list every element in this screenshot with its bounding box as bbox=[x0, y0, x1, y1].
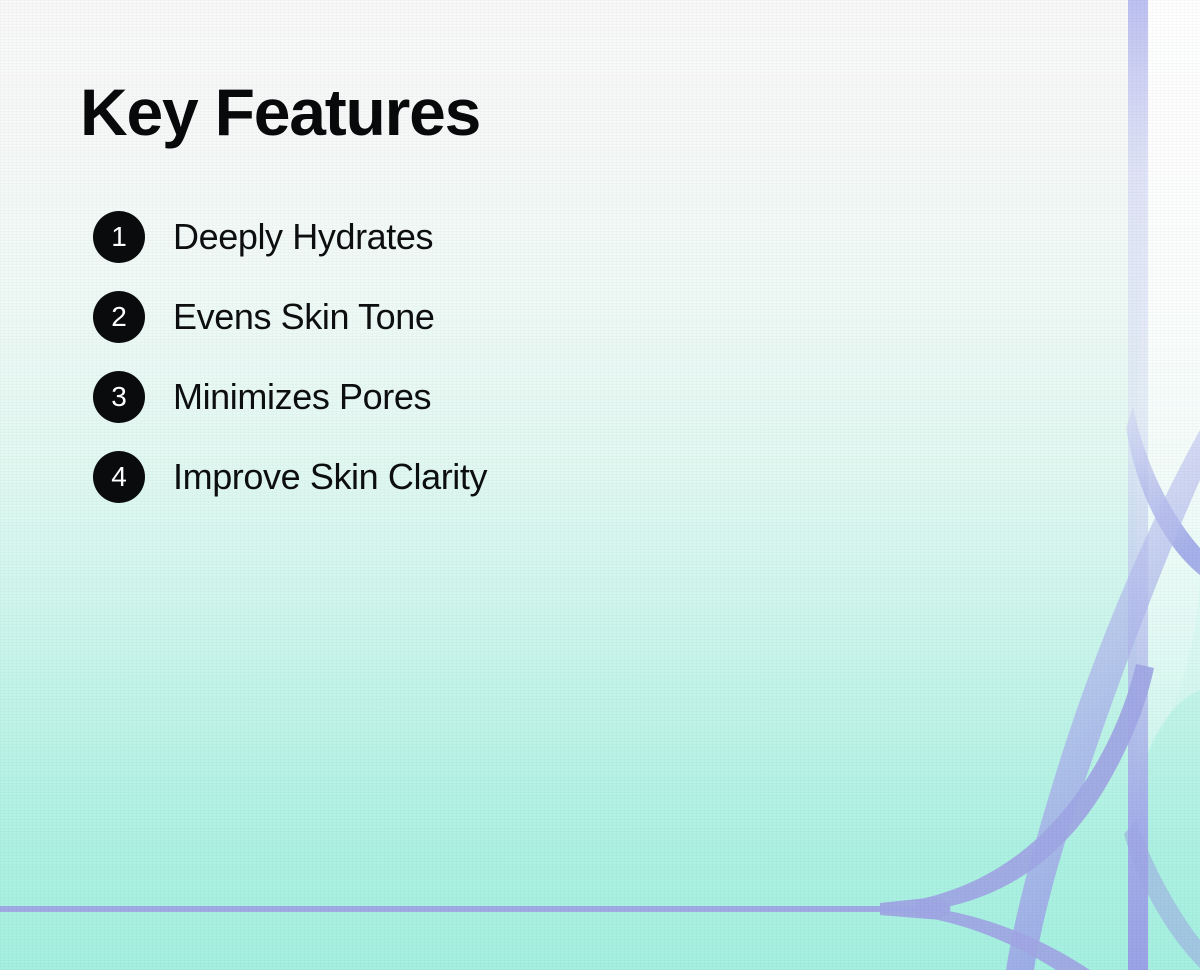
feature-label: Deeply Hydrates bbox=[173, 216, 433, 258]
fork-branch-down bbox=[916, 906, 1090, 970]
number-badge: 1 bbox=[93, 211, 145, 263]
vertical-accent-line bbox=[1128, 0, 1148, 970]
page-title: Key Features bbox=[80, 0, 840, 145]
feature-list: 1 Deeply Hydrates 2 Evens Skin Tone 3 Mi… bbox=[93, 211, 833, 531]
list-item: 1 Deeply Hydrates bbox=[93, 211, 833, 263]
slide-content: Key Features 1 Deeply Hydrates 2 Evens S… bbox=[80, 0, 840, 145]
feature-label: Evens Skin Tone bbox=[173, 296, 435, 338]
feature-label: Improve Skin Clarity bbox=[173, 456, 487, 498]
slide-canvas: Key Features 1 Deeply Hydrates 2 Evens S… bbox=[0, 0, 1200, 970]
fork-branch-up bbox=[916, 664, 1154, 912]
number-badge: 3 bbox=[93, 371, 145, 423]
list-item: 3 Minimizes Pores bbox=[93, 371, 833, 423]
right-panel-highlight-2 bbox=[1136, 0, 1200, 800]
swoosh-curve-main bbox=[1006, 430, 1200, 970]
swoosh-curve-upper bbox=[1126, 406, 1200, 575]
list-item: 2 Evens Skin Tone bbox=[93, 291, 833, 343]
number-badge: 2 bbox=[93, 291, 145, 343]
right-panel-highlight bbox=[1120, 0, 1200, 790]
swoosh-curve-lower bbox=[1124, 820, 1200, 968]
number-badge: 4 bbox=[93, 451, 145, 503]
list-item: 4 Improve Skin Clarity bbox=[93, 451, 833, 503]
fork-junction bbox=[880, 897, 950, 919]
horizontal-accent-line bbox=[0, 906, 940, 912]
feature-label: Minimizes Pores bbox=[173, 376, 431, 418]
